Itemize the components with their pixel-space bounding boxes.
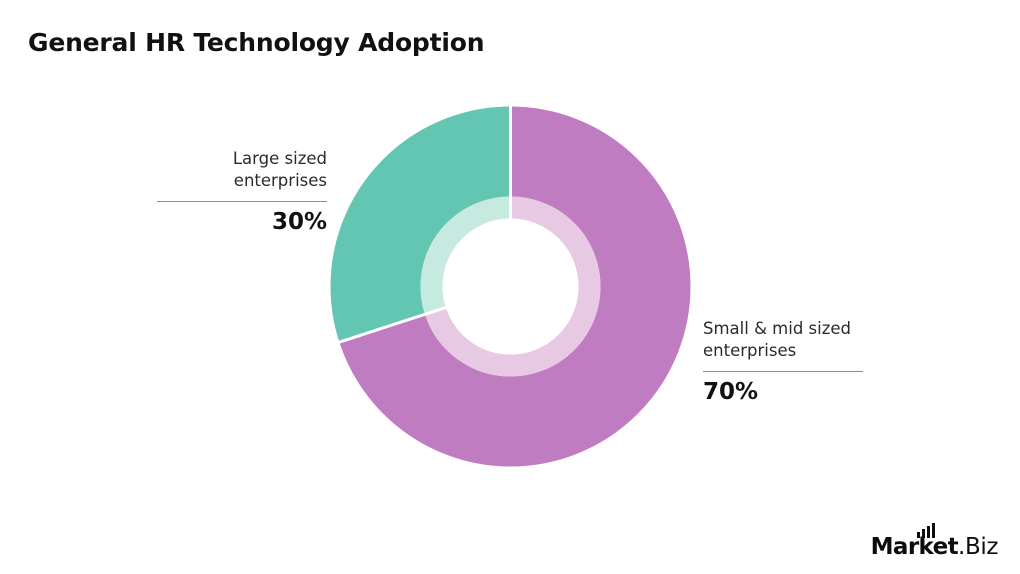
market-biz-logo: Market .Biz [871,526,998,560]
donut-hole [443,219,579,355]
logo-wordmark: Market .Biz [871,534,998,560]
callout-large-divider [157,201,327,202]
callout-large-label: Large sized enterprises [157,148,327,192]
donut-chart-svg [330,106,691,467]
callout-small-divider [703,371,863,372]
callout-large-label-line1: Large sized [157,148,327,170]
callout-large-value: 30% [157,209,327,235]
callout-small-label: Small & mid sized enterprises [703,318,863,362]
callout-small-label-line1: Small & mid sized [703,318,863,340]
logo-text-market: Market [871,534,958,560]
callout-large-enterprises: Large sized enterprises 30% [157,148,327,235]
callout-small-label-line2: enterprises [703,340,863,362]
donut-chart [330,106,691,467]
logo-text-biz: .Biz [958,534,998,560]
bar-chart-icon [917,523,935,538]
callout-small-value: 70% [703,379,863,405]
callout-small-mid-enterprises: Small & mid sized enterprises 70% [703,318,863,405]
page-title: General HR Technology Adoption [28,28,484,57]
callout-large-label-line2: enterprises [157,170,327,192]
